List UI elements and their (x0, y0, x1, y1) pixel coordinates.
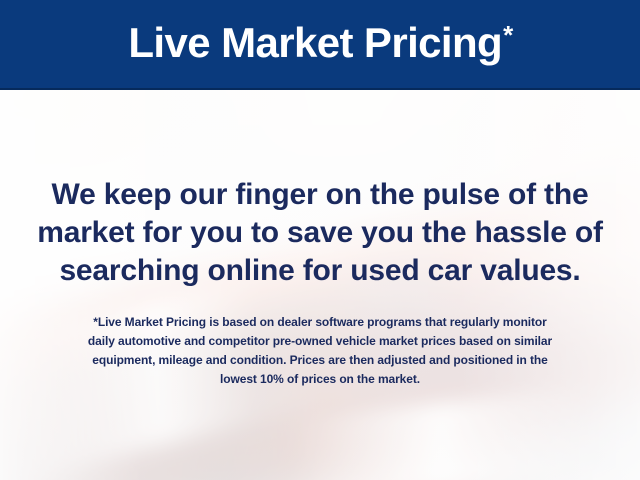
banner-title: Live Market Pricing* (128, 20, 511, 64)
headline-line-2: market for you to save you the hassle of (0, 214, 640, 252)
disclaimer: *Live Market Pricing is based on dealer … (0, 313, 640, 389)
headline: We keep our finger on the pulse of the m… (0, 176, 640, 290)
banner-title-asterisk: * (503, 20, 513, 50)
disclaimer-line-3: equipment, mileage and condition. Prices… (0, 351, 640, 370)
header-banner: Live Market Pricing* (0, 0, 640, 90)
live-market-pricing-promo-card: Live Market Pricing* We keep our finger … (0, 0, 640, 480)
headline-line-1: We keep our finger on the pulse of the (0, 176, 640, 214)
disclaimer-line-1: *Live Market Pricing is based on dealer … (0, 313, 640, 332)
headline-line-3: searching online for used car values. (0, 252, 640, 290)
banner-title-text: Live Market Pricing (128, 19, 502, 66)
disclaimer-line-2: daily automotive and competitor pre-owne… (0, 332, 640, 351)
disclaimer-line-4: lowest 10% of prices on the market. (0, 370, 640, 389)
